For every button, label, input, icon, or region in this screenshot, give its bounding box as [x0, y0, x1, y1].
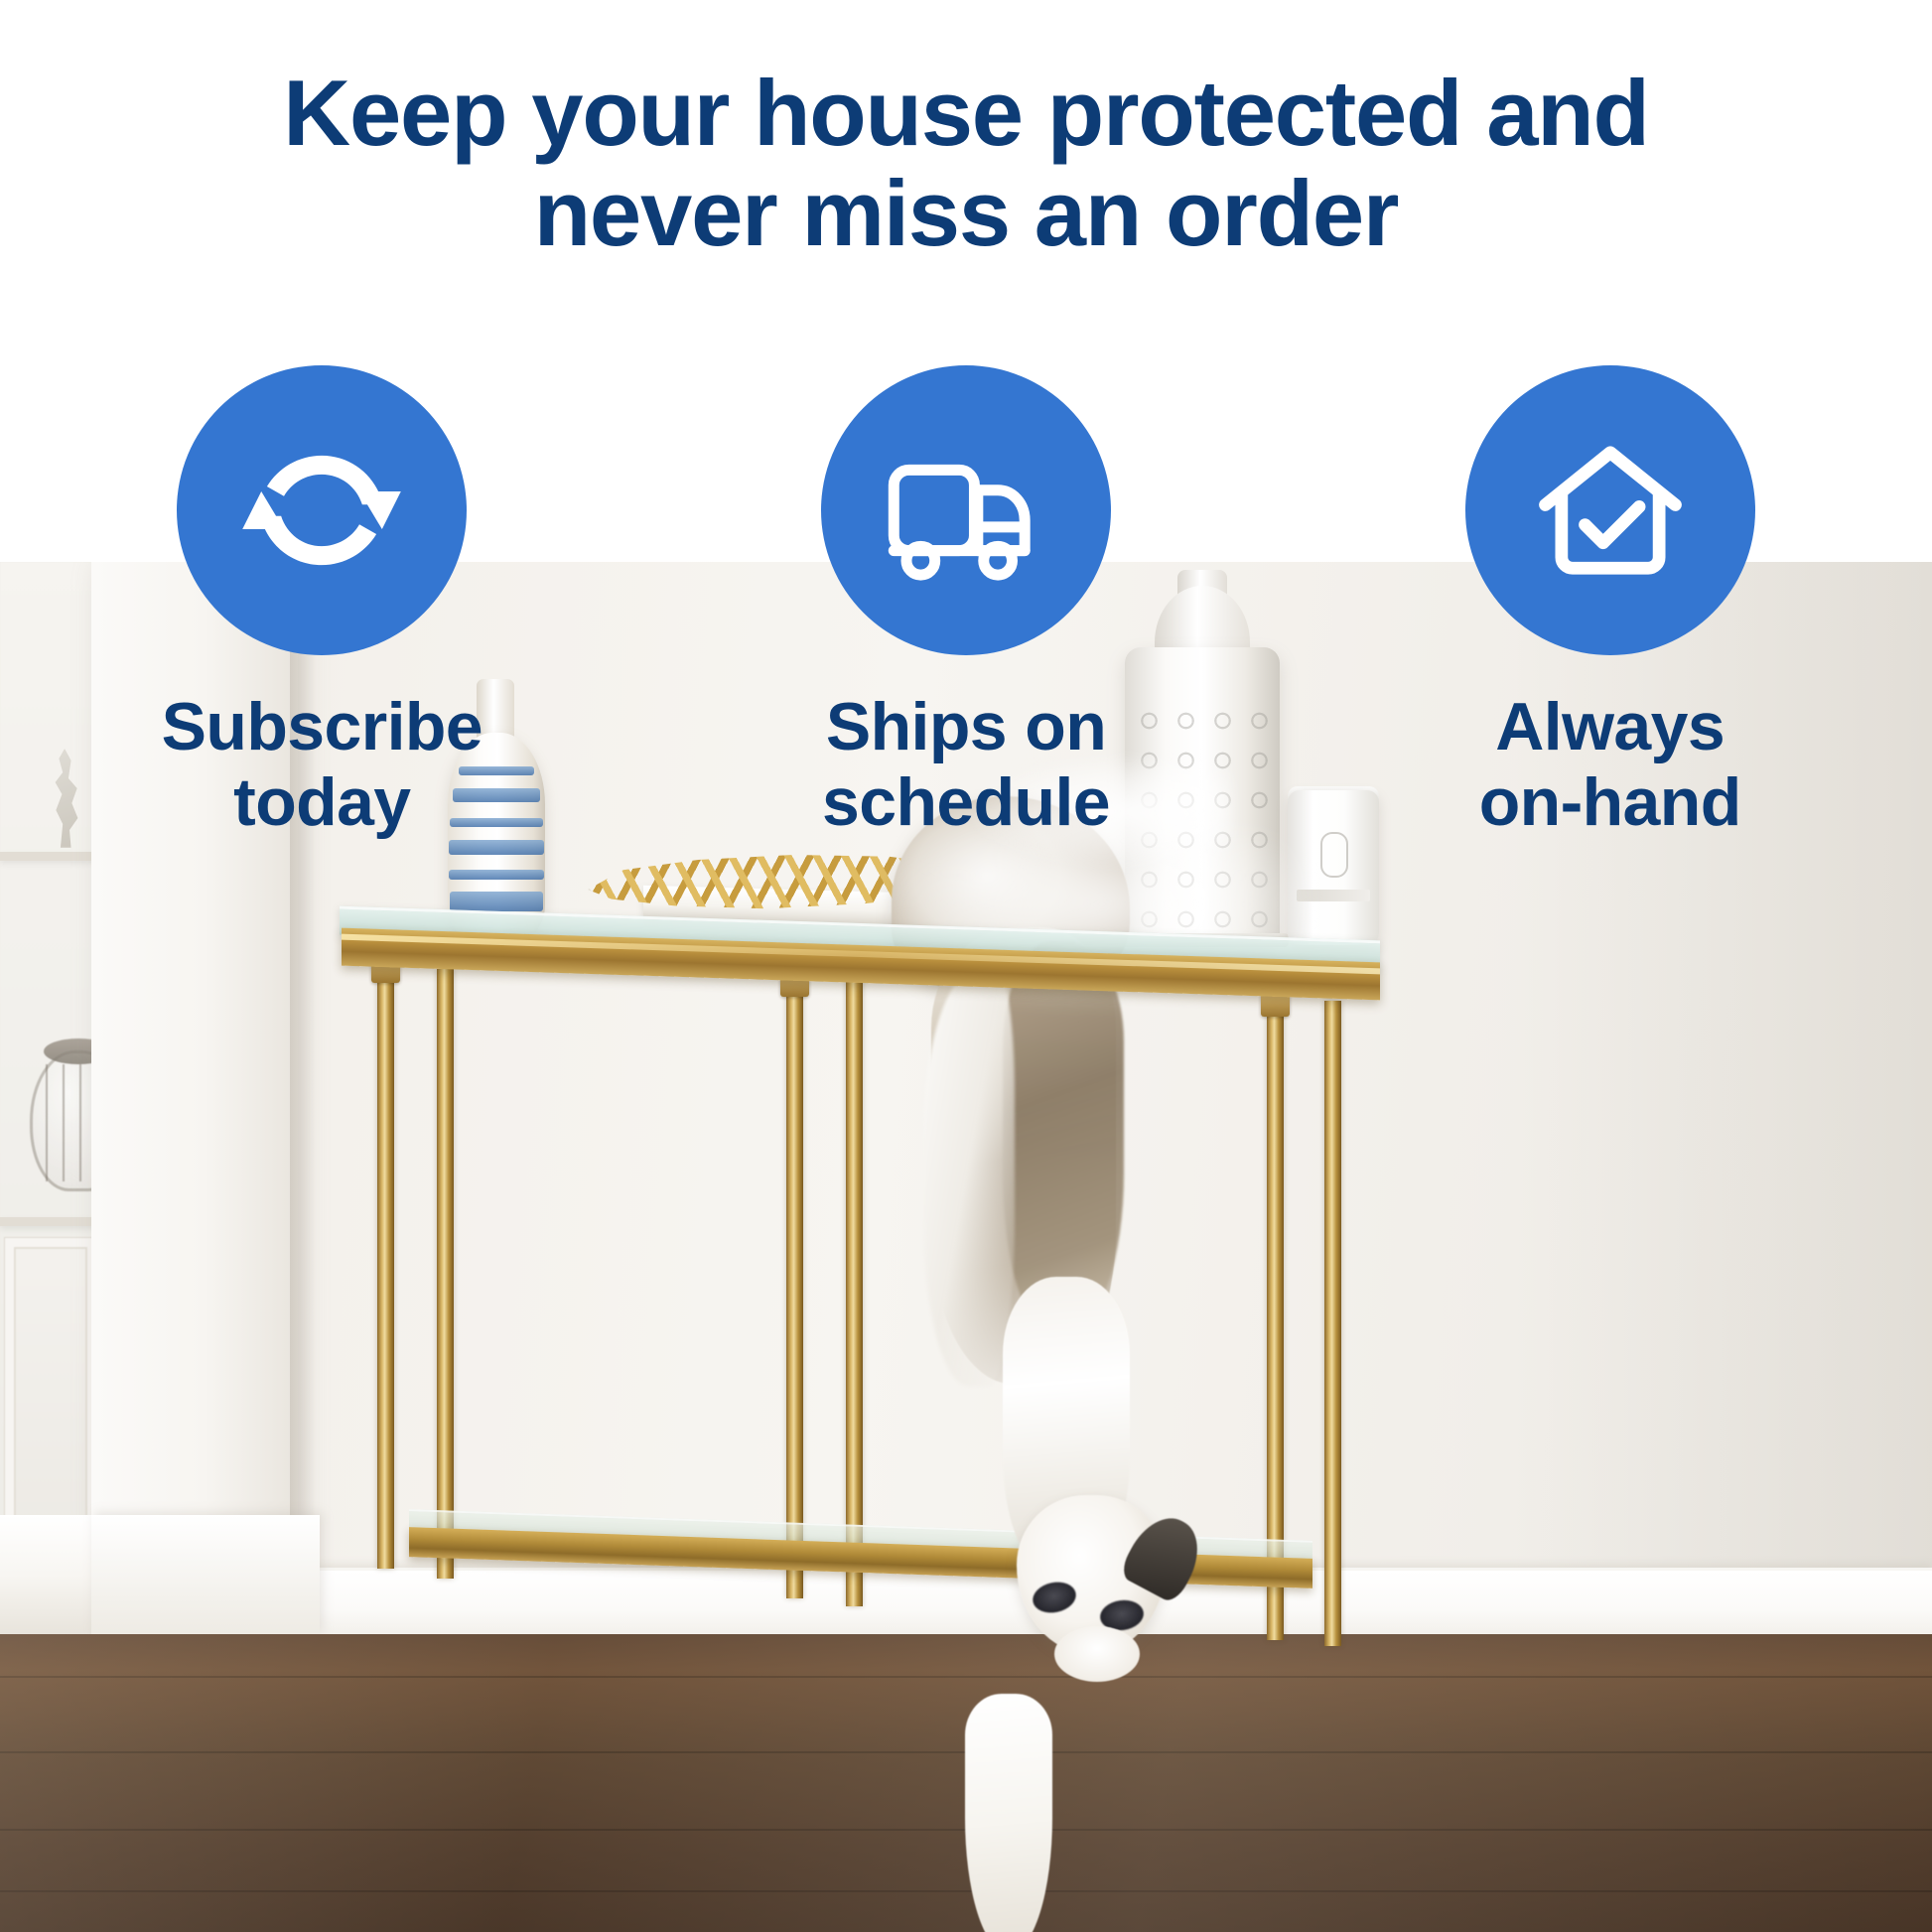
feature-subscribe[interactable]: Subscribe today [0, 365, 644, 882]
feature-subscribe-label: Subscribe today [162, 689, 483, 840]
subscribe-icon-circle [177, 365, 467, 655]
house-check-icon [1520, 420, 1701, 601]
table-leg-6 [1324, 1001, 1341, 1646]
feature-onhand[interactable]: Always on-hand [1288, 365, 1932, 882]
cat-front-paw [965, 1694, 1052, 1932]
promo-banner: Keep your house protected and never miss… [0, 0, 1932, 1932]
table-leg-3 [786, 977, 803, 1598]
onhand-icon-circle [1465, 365, 1755, 655]
table-leg-1 [377, 963, 394, 1569]
cat-muzzle [1054, 1626, 1140, 1682]
table-leg-2 [437, 969, 454, 1579]
delivery-truck-icon [874, 418, 1058, 603]
cat-fur-dark-patch [1003, 941, 1124, 1328]
page-title: Keep your house protected and never miss… [0, 64, 1932, 263]
headline-line-2: never miss an order [0, 164, 1932, 264]
feature-shipping-label: Ships on schedule [822, 689, 1110, 840]
feature-onhand-label: Always on-hand [1479, 689, 1741, 840]
feature-row: Subscribe today [0, 365, 1932, 882]
table-leg-4 [846, 981, 863, 1606]
headline-line-1: Keep your house protected and [0, 64, 1932, 164]
cat-fur-light-patch [923, 969, 1015, 1386]
shipping-icon-circle [821, 365, 1111, 655]
feature-shipping[interactable]: Ships on schedule [644, 365, 1289, 882]
subscribe-refresh-icon [227, 416, 416, 605]
